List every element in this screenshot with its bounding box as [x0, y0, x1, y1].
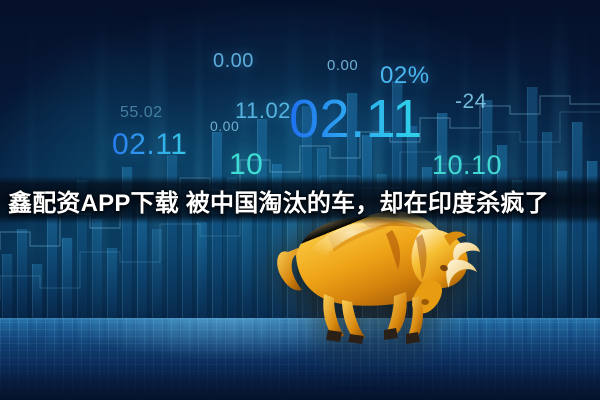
floating-number: 0.00	[210, 118, 239, 134]
floating-number: 02.11	[112, 128, 187, 162]
page-title: 鑫配资APP下载 被中国淘汰的车，却在印度杀疯了	[8, 183, 596, 217]
floating-number: 02.11	[289, 88, 423, 150]
floating-number: 0.00	[327, 57, 358, 74]
floating-number: 11.02	[235, 98, 291, 124]
floating-number: 55.02	[120, 104, 163, 122]
floating-number: -24	[455, 90, 487, 114]
floating-number: 02%	[380, 62, 430, 90]
promo-banner: 0.000.0002%55.0211.020.0002.11-2402.1110…	[0, 0, 600, 400]
floating-number: 0.00	[213, 50, 254, 73]
